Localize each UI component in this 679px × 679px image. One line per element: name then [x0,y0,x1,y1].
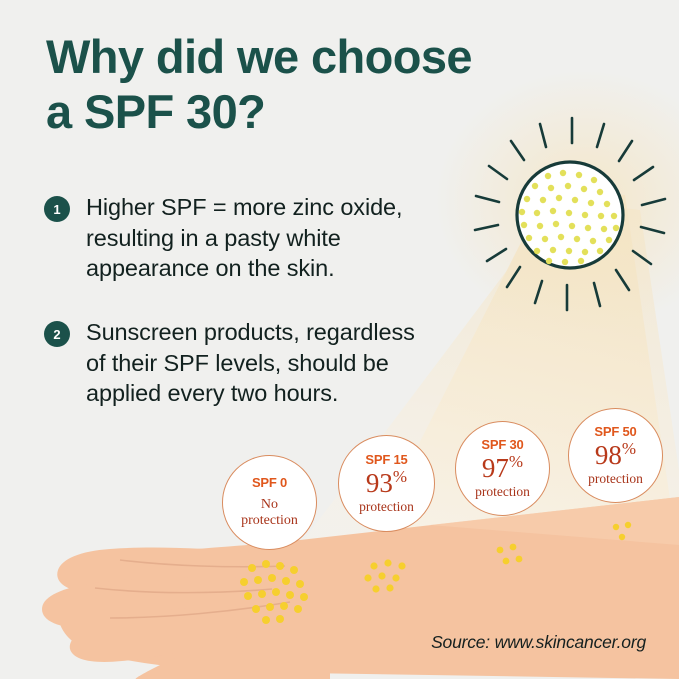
spf-badge-value: 93% [366,468,407,497]
uv-dot-cluster-spf15 [364,559,405,592]
infographic-canvas: Why did we choose a SPF 30? 1 Higher SPF… [0,0,679,679]
spf-badge-value: 97% [482,453,523,482]
spf-badge-label: SPF 0 [252,476,287,490]
list-number-badge: 1 [44,196,70,222]
source-attribution: Source: www.skincancer.org [431,632,646,653]
spf-badge-sub: No protection [241,497,298,529]
uv-dot-cluster-spf50 [613,522,631,540]
spf-badge-number: 97 [482,453,509,483]
list-item: 2 Sunscreen products, regardless of thei… [44,317,574,409]
spf-badge-spf-0: SPF 0 No protection [222,455,317,550]
spf-badge-spf-30: SPF 30 97% protection [455,421,550,516]
list-number-badge: 2 [44,321,70,347]
spf-badge-sub: protection [359,499,414,515]
uv-dot-cluster-spf0 [240,560,308,624]
uv-dot-cluster-spf30 [497,544,523,565]
percent-sign: % [393,467,407,486]
list-item-text: Higher SPF = more zinc oxide, resulting … [86,192,402,284]
spf-badge-spf-15: SPF 15 93% protection [338,435,435,532]
spf-badge-value: 98% [595,440,636,469]
spf-badge-label: SPF 50 [594,425,636,439]
spf-badge-number: 98 [595,440,622,470]
list-item: 1 Higher SPF = more zinc oxide, resultin… [44,192,574,284]
list-item-text: Sunscreen products, regardless of their … [86,317,415,409]
spf-badge-number: 93 [366,468,393,498]
spf-badge-sub: protection [588,471,643,487]
spf-badge-label: SPF 15 [365,453,407,467]
spf-badge-spf-50: SPF 50 98% protection [568,408,663,503]
percent-sign: % [509,452,523,471]
percent-sign: % [622,439,636,458]
spf-badge-label: SPF 30 [481,438,523,452]
spf-badge-sub: protection [475,484,530,500]
page-title: Why did we choose a SPF 30? [46,30,606,140]
